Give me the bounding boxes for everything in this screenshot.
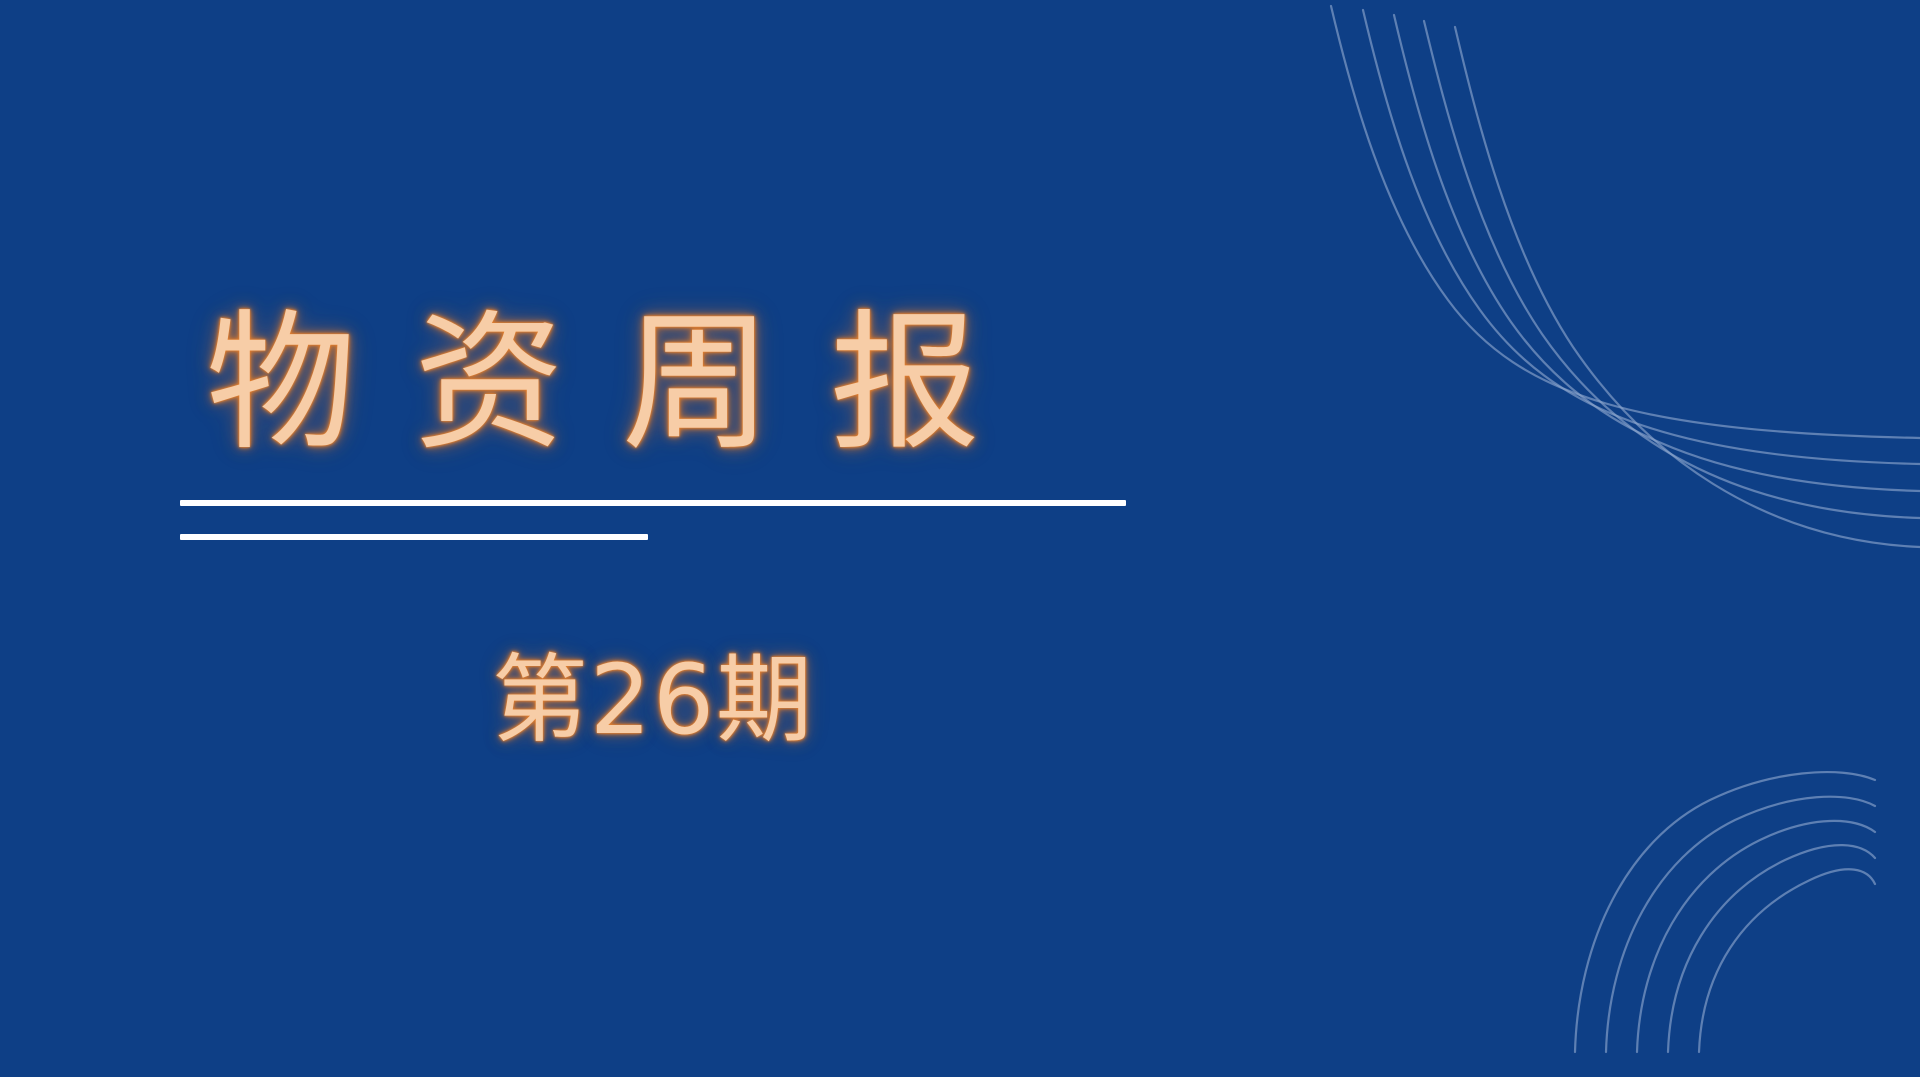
title-block: 物资周报 [180, 296, 1280, 473]
deco-curve-line [1455, 27, 1920, 547]
deco-curve-line [1394, 15, 1920, 491]
deco-arc-line [1606, 797, 1875, 1052]
deco-arc-line [1575, 772, 1875, 1052]
issue-subtitle: 第26期 [180, 648, 1126, 754]
title-slide: 物资周报 第26期 [0, 0, 1920, 1077]
deco-arc-line [1699, 869, 1875, 1052]
deco-curve-line [1363, 10, 1920, 464]
title-underline-long [180, 500, 1126, 506]
page-title: 物资周报 [180, 296, 1280, 473]
deco-curve-line [1424, 21, 1920, 518]
title-underline-short [180, 534, 648, 540]
deco-curve-line [1331, 6, 1920, 438]
deco-arc-line [1637, 821, 1875, 1052]
deco-arc-line [1668, 845, 1875, 1052]
